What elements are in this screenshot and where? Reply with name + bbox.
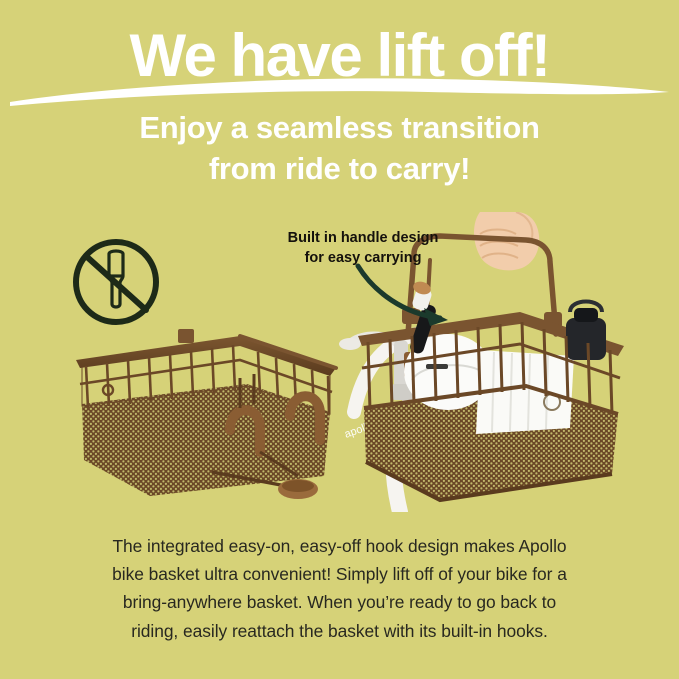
body-copy-line-3: bring-anywhere basket. When you’re ready… xyxy=(52,588,627,616)
body-copy: The integrated easy-on, easy-off hook de… xyxy=(52,532,627,645)
body-copy-line-2: bike basket ultra convenient! Simply lif… xyxy=(52,560,627,588)
infographic-canvas: We have lift off! Enjoy a seamless trans… xyxy=(0,0,679,679)
black-thermos xyxy=(566,302,606,361)
subheading-line-2: from ride to carry! xyxy=(0,149,679,190)
wire-basket-product-photo xyxy=(62,300,352,500)
curved-arrow-icon xyxy=(352,262,472,334)
body-copy-line-1: The integrated easy-on, easy-off hook de… xyxy=(52,532,627,560)
headline-swoosh-underline xyxy=(8,72,671,110)
subheading-line-1: Enjoy a seamless transition xyxy=(0,108,679,149)
annotation-line-1: Built in handle design xyxy=(258,229,468,249)
subheading: Enjoy a seamless transition from ride to… xyxy=(0,108,679,190)
body-copy-line-4: riding, easily reattach the basket with … xyxy=(52,617,627,645)
